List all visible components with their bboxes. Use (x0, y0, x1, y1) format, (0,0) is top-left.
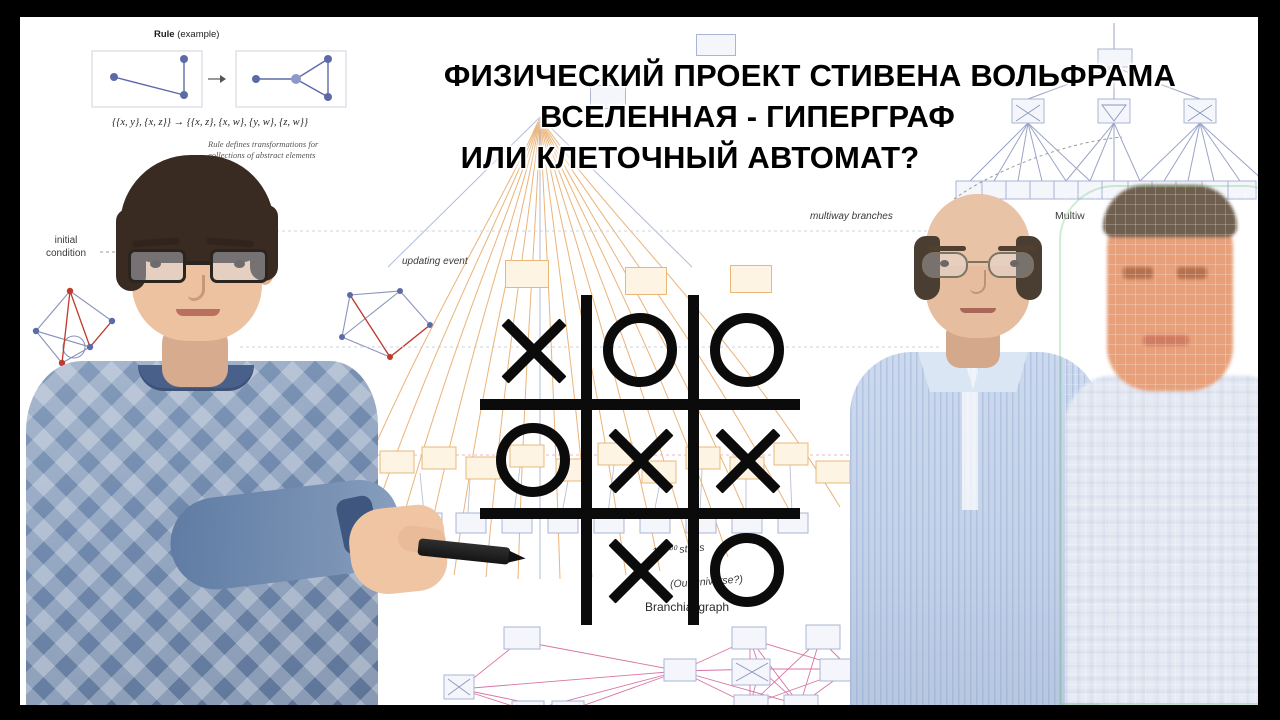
tic-tac-toe-board (480, 295, 800, 625)
wolfram-nose (970, 270, 986, 294)
glasses-bridge (968, 261, 988, 263)
cell-0-1 (587, 295, 693, 405)
wolfram-eyebrow (998, 246, 1036, 251)
event-node-box (505, 260, 549, 288)
thumbnail-stage: Rule (example) (0, 0, 1280, 720)
mark-x (602, 422, 678, 498)
mark-o (496, 423, 570, 497)
cell-2-1 (587, 515, 693, 625)
rule-title-label: Rule (example) (154, 29, 219, 40)
updating-event-label: updating event (402, 256, 468, 267)
presenter-left-mouth (176, 309, 220, 316)
event-node-box (730, 265, 772, 293)
state-node-box (696, 34, 736, 56)
mark-x (602, 532, 678, 608)
title-block: ФИЗИЧЕСКИЙ ПРОЕКТ СТИВЕНА ВОЛЬФРАМА ВСЕЛ… (350, 55, 1258, 179)
mark-x (495, 312, 571, 388)
cell-1-2 (694, 405, 800, 515)
green-fringe-outline (1059, 185, 1258, 705)
glasses-bridge (186, 261, 210, 265)
cell-0-2 (694, 295, 800, 405)
title-line-1: ФИЗИЧЕСКИЙ ПРОЕКТ СТИВЕНА ВОЛЬФРАМА (350, 55, 1258, 96)
cell-0-0 (480, 295, 586, 405)
slide-canvas: Rule (example) (20, 17, 1258, 705)
cell-1-0 (480, 405, 586, 515)
glasses-lens (988, 252, 1034, 278)
mark-x (709, 422, 785, 498)
cell-2-2 (694, 515, 800, 625)
glasses-lens (922, 252, 968, 278)
wolfram-eyebrow (928, 246, 966, 251)
event-node-box (625, 267, 667, 295)
title-line-2: ВСЕЛЕННАЯ - ГИПЕРГРАФ (225, 96, 1258, 137)
wolfram-mouth (960, 308, 996, 313)
cell-1-1 (587, 405, 693, 515)
pixelated-figure (1065, 185, 1258, 705)
presenter-left (20, 129, 390, 705)
mark-o (603, 313, 677, 387)
mark-o (710, 533, 784, 607)
glasses-lens (210, 249, 268, 283)
glasses-lens (128, 249, 186, 283)
title-line-3: ИЛИ КЛЕТОЧНЫЙ АВТОМАТ? (110, 137, 1258, 178)
mark-o (710, 313, 784, 387)
cell-2-0 (480, 515, 586, 625)
